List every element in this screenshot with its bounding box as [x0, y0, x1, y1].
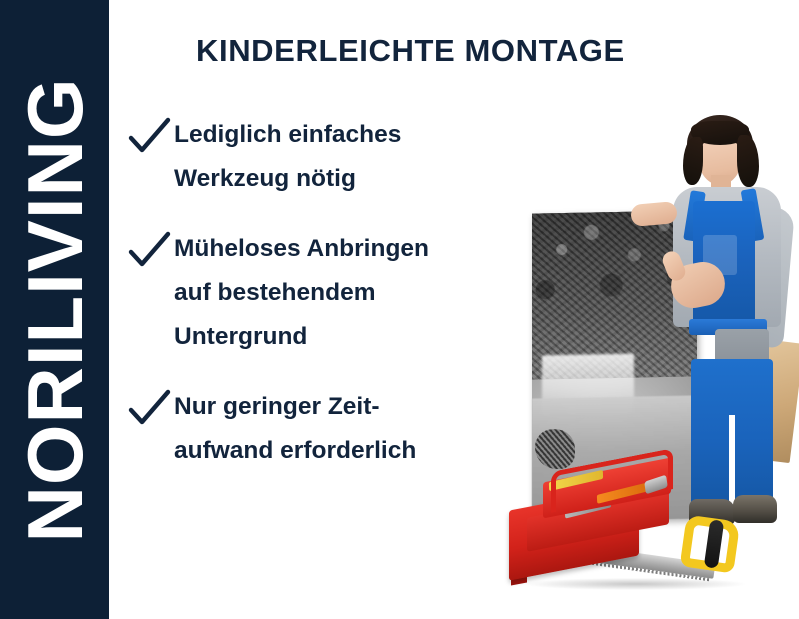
leg-gap: [729, 415, 735, 509]
checkmark-icon: [128, 117, 172, 157]
brand-name: NORILIVING: [16, 77, 94, 542]
checkmark-icon: [128, 389, 172, 429]
supporting-hand: [630, 201, 678, 227]
list-item: Lediglich einfaches Werkzeug nötig: [128, 113, 498, 201]
list-item: Müheloses Anbringen auf bestehendem Unte…: [128, 227, 498, 359]
list-item-text: Nur geringer Zeit- aufwand erforderlich: [172, 385, 498, 473]
list-item-line: aufwand erforderlich: [174, 429, 498, 473]
red-toolbox: [505, 462, 695, 592]
ground-shadow: [525, 578, 745, 590]
list-item-line: auf bestehendem: [174, 271, 498, 315]
list-item: Nur geringer Zeit- aufwand erforderlich: [128, 385, 498, 473]
promo-banner: NORILIVING KINDERLEICHTE MONTAGE Ledigli…: [0, 0, 799, 619]
list-item-text: Lediglich einfaches Werkzeug nötig: [172, 113, 498, 201]
list-item-line: Müheloses Anbringen: [174, 227, 498, 271]
benefit-list: Lediglich einfaches Werkzeug nötig Mühel…: [128, 113, 498, 473]
work-boot-right: [733, 495, 777, 523]
list-item-line: Lediglich einfaches: [174, 113, 498, 157]
hair-left: [683, 137, 703, 185]
list-item-line: Untergrund: [174, 315, 498, 359]
list-item-line: Nur geringer Zeit-: [174, 385, 498, 429]
hair-right: [737, 135, 759, 187]
list-item-line: Werkzeug nötig: [174, 157, 498, 201]
product-photo: [495, 0, 799, 619]
list-item-text: Müheloses Anbringen auf bestehendem Unte…: [172, 227, 498, 359]
brand-sidebar: NORILIVING: [0, 0, 109, 619]
checkmark-icon: [128, 231, 172, 271]
